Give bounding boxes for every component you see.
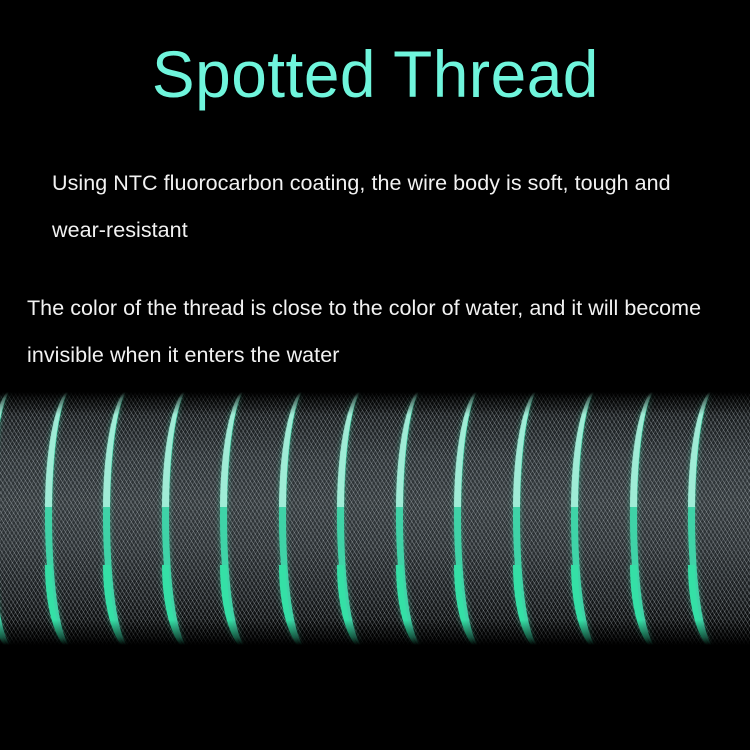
line-wrap xyxy=(337,392,395,645)
line-wrap xyxy=(279,392,337,645)
line-wrap xyxy=(45,392,103,645)
description-block: Using NTC fluorocarbon coating, the wire… xyxy=(0,160,750,379)
line-wrap xyxy=(103,392,161,645)
page-title: Spotted Thread xyxy=(152,40,599,108)
product-photo xyxy=(0,392,750,645)
line-wrap xyxy=(688,392,746,645)
line-wrap xyxy=(630,392,688,645)
line-wrap xyxy=(513,392,571,645)
line-wrap xyxy=(220,392,278,645)
description-paragraph-2: The color of the thread is close to the … xyxy=(0,285,750,379)
line-wrap xyxy=(454,392,512,645)
promo-banner: Spotted Thread Using NTC fluorocarbon co… xyxy=(0,0,750,750)
title-block: Spotted Thread xyxy=(0,40,750,108)
line-wrap xyxy=(396,392,454,645)
description-paragraph-1: Using NTC fluorocarbon coating, the wire… xyxy=(0,160,750,254)
line-wrap xyxy=(571,392,629,645)
line-wrap xyxy=(162,392,220,645)
